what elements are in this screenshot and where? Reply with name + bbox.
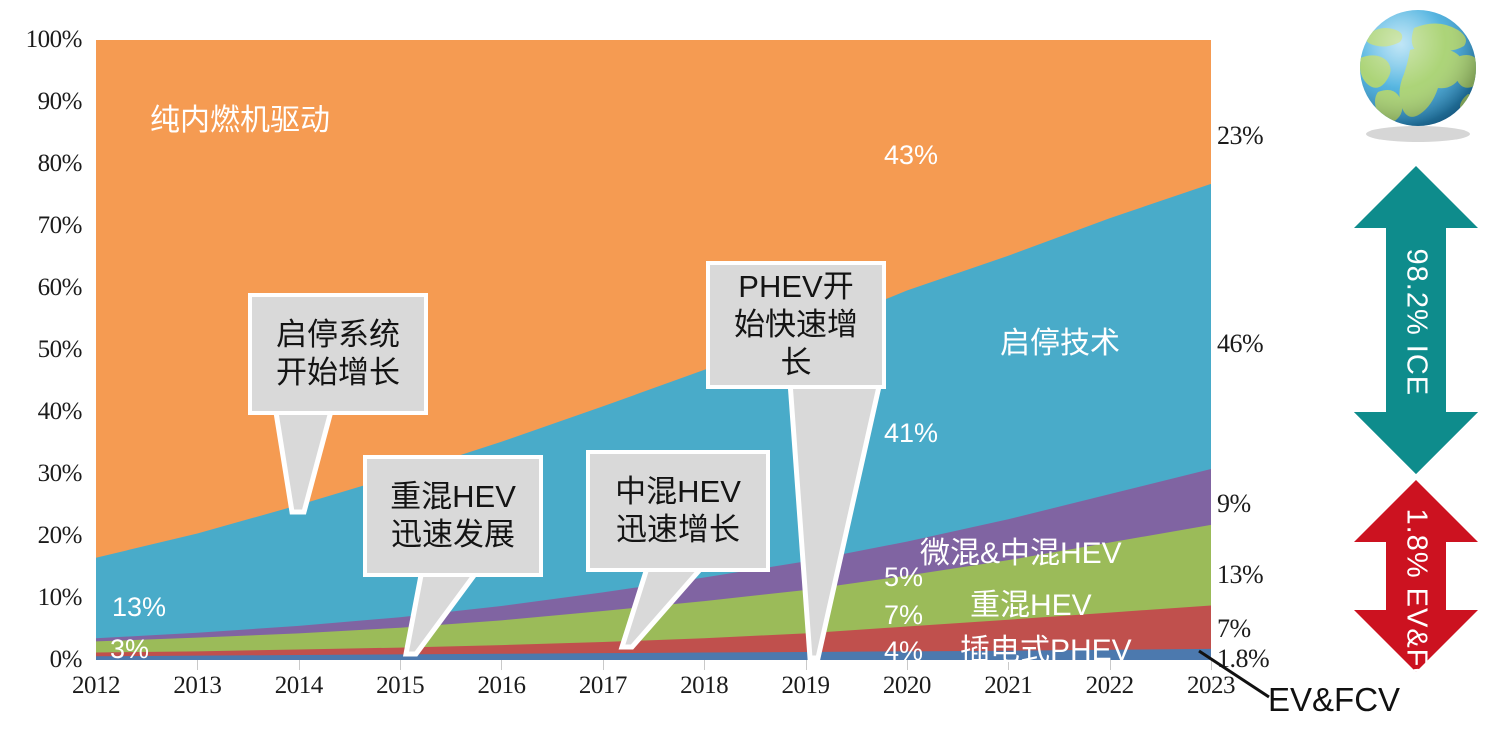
x-tick-label: 2017: [579, 672, 627, 700]
callout-start-stop-growth[interactable]: 启停系统 开始增长: [248, 293, 428, 415]
y-tick-label: 80%: [38, 150, 82, 178]
x-tick-label: 2023: [1187, 672, 1235, 700]
callout-line-1: 启停系统: [276, 316, 400, 354]
callout-line-2: 迅速发展: [390, 516, 516, 554]
y-tick-label: 0%: [50, 646, 82, 674]
callout-line-2: 迅速增长: [615, 511, 741, 549]
globe-earth-icon: [1348, 6, 1496, 146]
y-tick-label: 10%: [38, 584, 82, 612]
evfcv-leader-label: EV&FCV: [1268, 681, 1400, 719]
y-tick-label: 20%: [38, 522, 82, 550]
x-tick-label: 2012: [72, 672, 120, 700]
y-tick-label: 50%: [38, 336, 82, 364]
value-label-right-2023: 9%: [1217, 489, 1251, 519]
x-tick-label: 2013: [173, 672, 221, 700]
callout-line-3: 长: [734, 344, 858, 382]
x-tickmark: [299, 660, 300, 670]
callout-full-hev-growth[interactable]: 重混HEV 迅速发展: [363, 455, 543, 577]
ice-share-label: 98.2% ICE: [1400, 249, 1433, 385]
x-tick-label: 2016: [477, 672, 525, 700]
x-tick-label: 2019: [782, 672, 830, 700]
x-tickmark: [907, 660, 908, 670]
callout-line-2: 始快速增: [734, 306, 858, 344]
value-label-right-2023: 23%: [1217, 121, 1263, 151]
evfcv-share-label: 1.8% EV&FCV: [1400, 509, 1433, 665]
x-tickmark: [1211, 660, 1212, 670]
value-label-right-2023: 13%: [1217, 560, 1263, 590]
x-tickmark: [400, 660, 401, 670]
y-axis: 0%10%20%30%40%50%60%70%80%90%100%: [0, 28, 88, 668]
callout-line-2: 开始增长: [276, 354, 400, 392]
value-label-right-2023: 46%: [1217, 329, 1263, 359]
x-tickmark: [501, 660, 502, 670]
y-tick-label: 70%: [38, 212, 82, 240]
value-label-right-2023: 7%: [1217, 614, 1251, 644]
callout-line-1: 重混HEV: [390, 478, 516, 516]
x-tickmark: [1008, 660, 1009, 670]
callout-line-1: PHEV开: [734, 268, 858, 306]
x-tick-label: 2022: [1086, 672, 1134, 700]
x-tickmark: [806, 660, 807, 670]
y-tick-label: 40%: [38, 398, 82, 426]
x-tick-label: 2018: [680, 672, 728, 700]
y-tick-label: 90%: [38, 88, 82, 116]
x-tick-label: 2014: [275, 672, 323, 700]
x-tickmark: [197, 660, 198, 670]
x-tick-label: 2015: [376, 672, 424, 700]
callout-mild-hev-growth[interactable]: 中混HEV 迅速增长: [586, 450, 770, 572]
x-tick-label: 2021: [984, 672, 1032, 700]
x-tickmark: [603, 660, 604, 670]
y-tick-label: 30%: [38, 460, 82, 488]
chart-root: 0%10%20%30%40%50%60%70%80%90%100% 201220…: [0, 0, 1506, 743]
x-tick-label: 2020: [883, 672, 931, 700]
callout-phev-growth[interactable]: PHEV开 始快速增 长: [706, 261, 886, 389]
callout-line-1: 中混HEV: [615, 473, 741, 511]
y-tick-label: 100%: [26, 26, 82, 54]
value-label-right-2023: 1.8%: [1217, 644, 1269, 674]
y-tick-label: 60%: [38, 274, 82, 302]
share-arrows: 98.2% ICE 1.8% EV&FCV: [1336, 150, 1496, 680]
x-tickmark: [1110, 660, 1111, 670]
x-axis: 2012201320142015201620172018201920202021…: [96, 672, 1211, 712]
x-tickmark: [704, 660, 705, 670]
